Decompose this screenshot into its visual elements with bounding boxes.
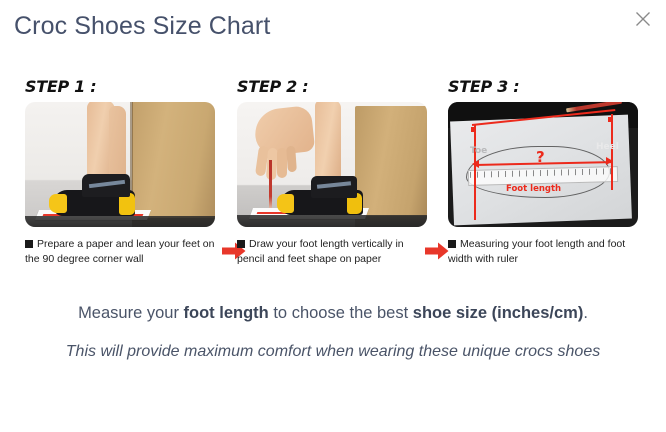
step-3-caption-text: Measuring your foot length and foot widt… [448,238,625,265]
photo3-label-heel: Heel [596,142,619,152]
steps-row: STEP 1 : Prepare a paper and lean your f… [0,72,666,290]
photo1-toe-highlight [49,194,67,213]
photo1-shin-right [109,106,126,184]
step-2-caption: Draw your foot length vertically in penc… [237,237,427,267]
instruction-bold-shoe-size: shoe size (inches/cm) [413,304,584,322]
instruction-bold-foot-length: foot length [184,304,269,322]
photo2-cardboard-wall [355,106,427,216]
arrow-right-icon-2 [425,242,449,260]
comfort-note: This will provide maximum comfort when w… [0,338,666,365]
photo1-floor [25,216,215,227]
photo2-toe-highlight [277,194,294,213]
photo3-measure-arrow-right [606,157,613,165]
page-title: Croc Shoes Size Chart [14,12,270,41]
photo3-label-question: ? [536,148,545,166]
instruction-text-2: to choose the best [269,304,413,322]
step-1-label: STEP 1 : [25,72,215,102]
photo2-floor [237,215,427,227]
photo3-label-toe: Toe [470,146,487,156]
step-1-caption-text: Prepare a paper and lean your feet on th… [25,238,214,265]
photo3-red-vertical-heel [611,114,613,190]
photo3-measure-arrow-left [472,160,479,168]
photo2-pencil [269,160,272,212]
footer-copy: Measure your foot length to choose the b… [0,300,666,365]
step-2-photo [237,102,427,227]
photo2-shin [315,102,341,182]
step-2-label: STEP 2 : [237,72,427,102]
size-chart-modal: { "header": { "title": "Croc Shoes Size … [0,0,666,432]
step-3-photo: Toe Heel ? Foot length [448,102,638,227]
step-column-3: STEP 3 : Toe Heel ? Foot length Measurin… [448,72,638,267]
photo2-finger-4 [286,146,297,173]
photo2-finger-3 [277,148,287,178]
step-3-label: STEP 3 : [448,72,638,102]
photo3-red-vertical-toe [474,124,476,220]
step-column-1: STEP 1 : Prepare a paper and lean your f… [25,72,215,267]
close-button[interactable] [628,4,658,34]
instruction-text-3: . [583,304,588,322]
photo3-corner-marker-left [471,127,476,132]
close-icon [635,11,651,27]
step-column-2: STEP 2 : Draw your foot length verticall… [237,72,427,267]
bullet-square-icon [448,240,456,248]
modal-header: Croc Shoes Size Chart [0,0,666,58]
bullet-square-icon [25,240,33,248]
step-2-caption-text: Draw your foot length vertically in penc… [237,238,404,265]
bullet-square-icon [237,240,245,248]
photo1-cardboard-wall [132,102,215,218]
photo3-corner-marker-right [608,117,613,122]
photo3-label-foot-length: Foot length [506,184,561,194]
instruction-line: Measure your foot length to choose the b… [0,300,666,326]
step-1-caption: Prepare a paper and lean your feet on th… [25,237,215,267]
step-3-caption: Measuring your foot length and foot widt… [448,237,638,267]
instruction-text-1: Measure your [78,304,183,322]
step-1-photo [25,102,215,227]
